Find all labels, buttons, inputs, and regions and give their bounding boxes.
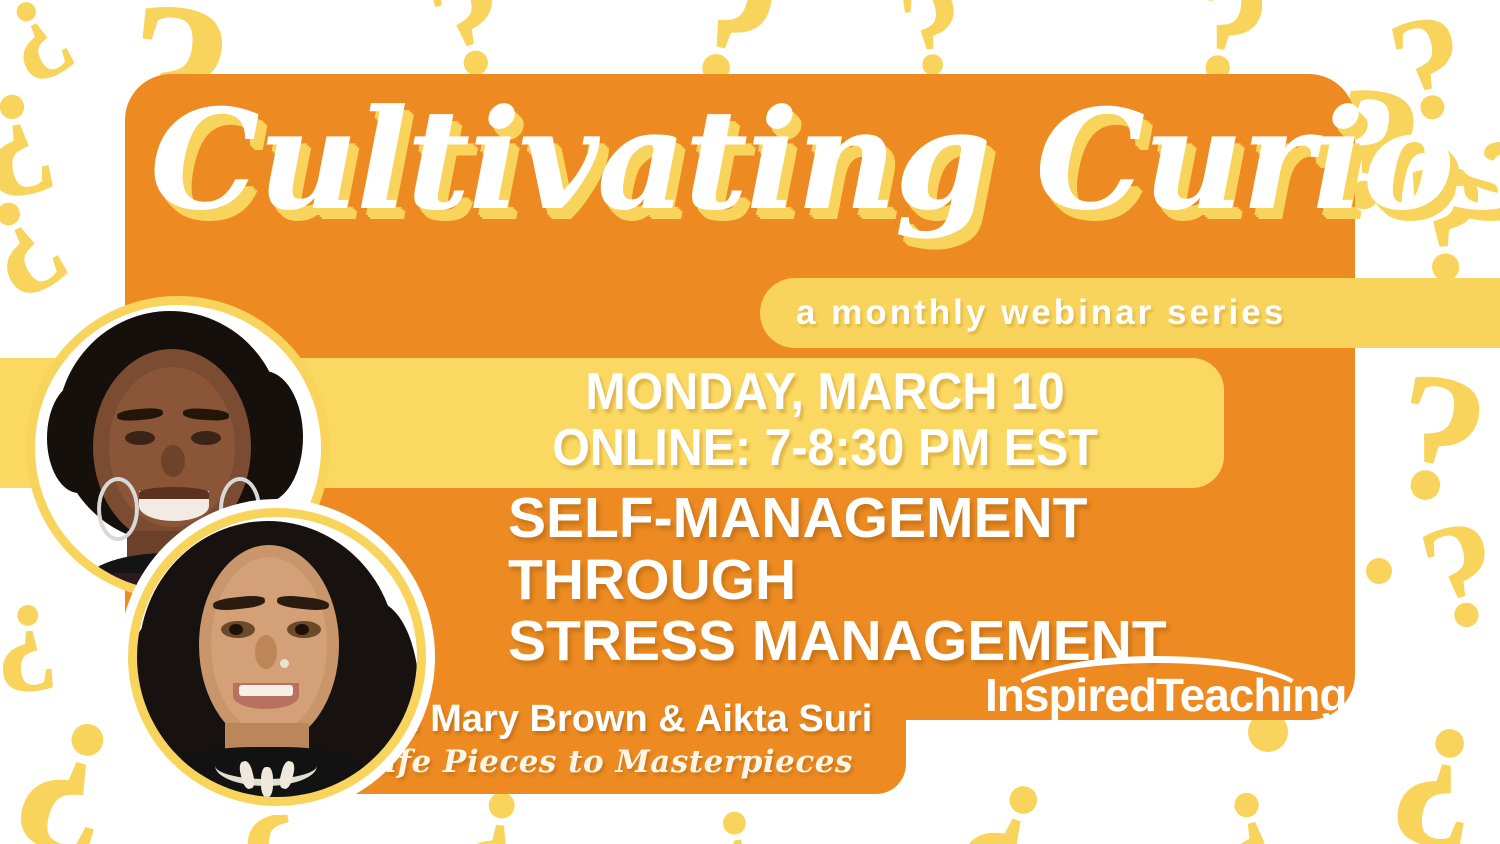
question-mark-icon: ? bbox=[0, 680, 141, 844]
question-mark-icon: ? bbox=[691, 786, 780, 844]
portrait-illustration bbox=[137, 517, 417, 797]
date-line: MONDAY, MARCH 10 bbox=[458, 364, 1193, 420]
date-time-text: MONDAY, MARCH 10 ONLINE: 7-8:30 PM EST bbox=[430, 364, 1220, 476]
question-mark-icon: ? bbox=[933, 747, 1071, 844]
logo-wordmark: InspiredTeachıng bbox=[985, 668, 1346, 722]
subtitle-banner: a monthly webinar series bbox=[760, 278, 1500, 348]
webinar-promo-graphic: ? ? ? ? ? ? ? ? ? ? ? ? ? ? ? ? ? ? ? ? … bbox=[0, 0, 1500, 844]
topic-line-2: THROUGH bbox=[508, 550, 1167, 612]
presenter-photo-aikta-suri bbox=[128, 508, 426, 806]
inspired-teaching-logo: InspiredTeachıng bbox=[985, 662, 1325, 724]
page-title: Cultivating Curiosity bbox=[150, 88, 1330, 233]
topic-heading: SELF-MANAGEMENT THROUGH STRESS MANAGEMEN… bbox=[508, 488, 1167, 673]
question-mark-icon: ? bbox=[0, 66, 68, 228]
question-mark-icon: ? bbox=[0, 0, 91, 107]
question-mark-icon: ? bbox=[0, 584, 62, 716]
topic-line-1: SELF-MANAGEMENT bbox=[508, 488, 1167, 550]
question-mark-icon: ? bbox=[1377, 694, 1494, 844]
time-line: ONLINE: 7-8:30 PM EST bbox=[458, 420, 1193, 476]
question-mark-icon: ? bbox=[0, 170, 88, 326]
question-mark-icon: ? bbox=[1407, 493, 1500, 657]
subtitle-text: a monthly webinar series bbox=[796, 293, 1286, 333]
question-mark-icon: ? bbox=[1379, 341, 1500, 536]
question-mark-dot bbox=[1366, 558, 1392, 584]
question-mark-icon: ? bbox=[1197, 763, 1306, 844]
